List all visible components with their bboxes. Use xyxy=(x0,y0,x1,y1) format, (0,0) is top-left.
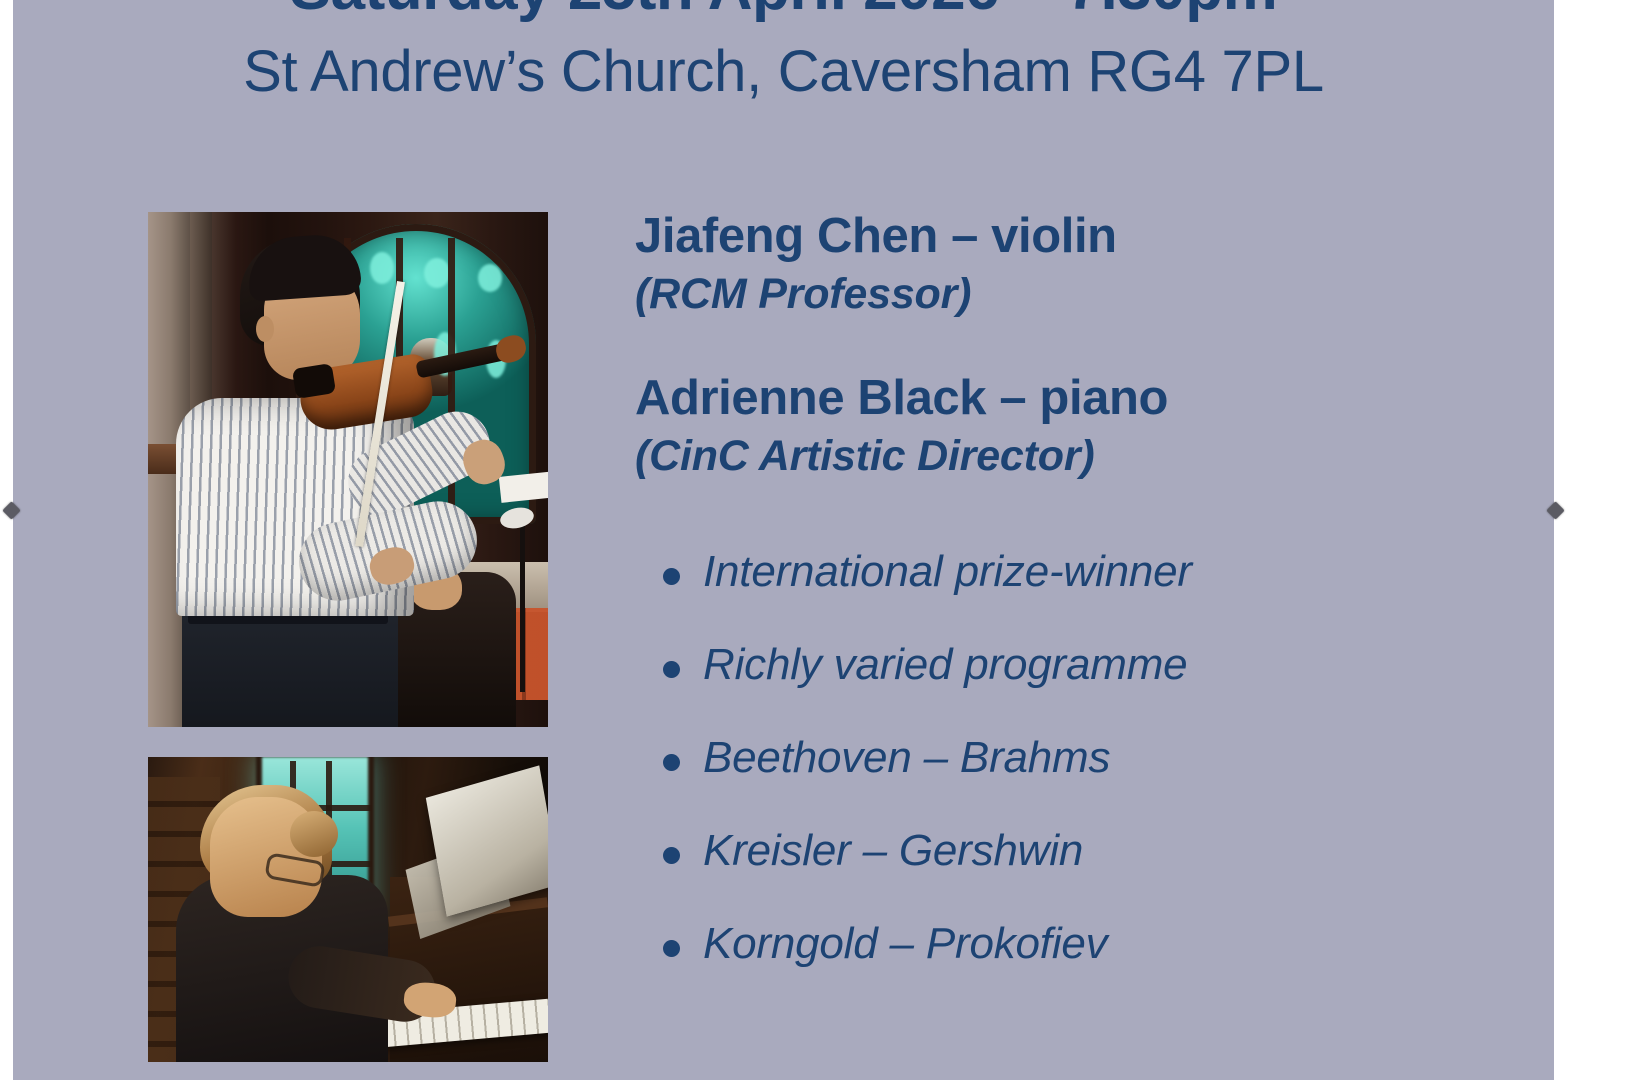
programme-highlights-list: International prize-winner Richly varied… xyxy=(635,546,1535,970)
list-item: Kreisler – Gershwin xyxy=(635,825,1535,877)
violinist-ear xyxy=(256,316,274,342)
pianist-hair-bun xyxy=(290,811,338,857)
performer-details-column: Jiafeng Chen – violin (RCM Professor) Ad… xyxy=(635,206,1535,1011)
page-canvas: Saturday 25th April 2026 – 7.30pm St And… xyxy=(0,0,1640,1080)
performer-name-piano: Adrienne Black – piano xyxy=(635,368,1535,428)
list-item: Richly varied programme xyxy=(635,639,1535,691)
concert-poster-slide[interactable]: Saturday 25th April 2026 – 7.30pm St And… xyxy=(13,0,1554,1080)
pianist-photo[interactable] xyxy=(148,757,548,1062)
list-item: International prize-winner xyxy=(635,546,1535,598)
spacer xyxy=(635,322,1535,368)
violinist-trousers xyxy=(182,610,398,727)
list-item: Beethoven – Brahms xyxy=(635,732,1535,784)
music-stand xyxy=(499,471,548,503)
event-date-time: Saturday 25th April 2026 – 7.30pm xyxy=(13,0,1554,32)
performer-role-piano: (CinC Artistic Director) xyxy=(635,428,1535,484)
performer-name-violin: Jiafeng Chen – violin xyxy=(635,206,1535,266)
list-item: Korngold – Prokofiev xyxy=(635,918,1535,970)
violinist-photo[interactable] xyxy=(148,212,548,727)
event-venue: St Andrew’s Church, Caversham RG4 7PL xyxy=(13,32,1554,112)
violin-chinrest xyxy=(292,363,336,399)
microphone-stand xyxy=(520,512,525,692)
glass-glint xyxy=(478,264,502,292)
glass-glint xyxy=(370,252,394,284)
performer-role-violin: (RCM Professor) xyxy=(635,266,1535,322)
glass-glint xyxy=(424,258,450,288)
poster-heading: Saturday 25th April 2026 – 7.30pm St And… xyxy=(13,0,1554,112)
